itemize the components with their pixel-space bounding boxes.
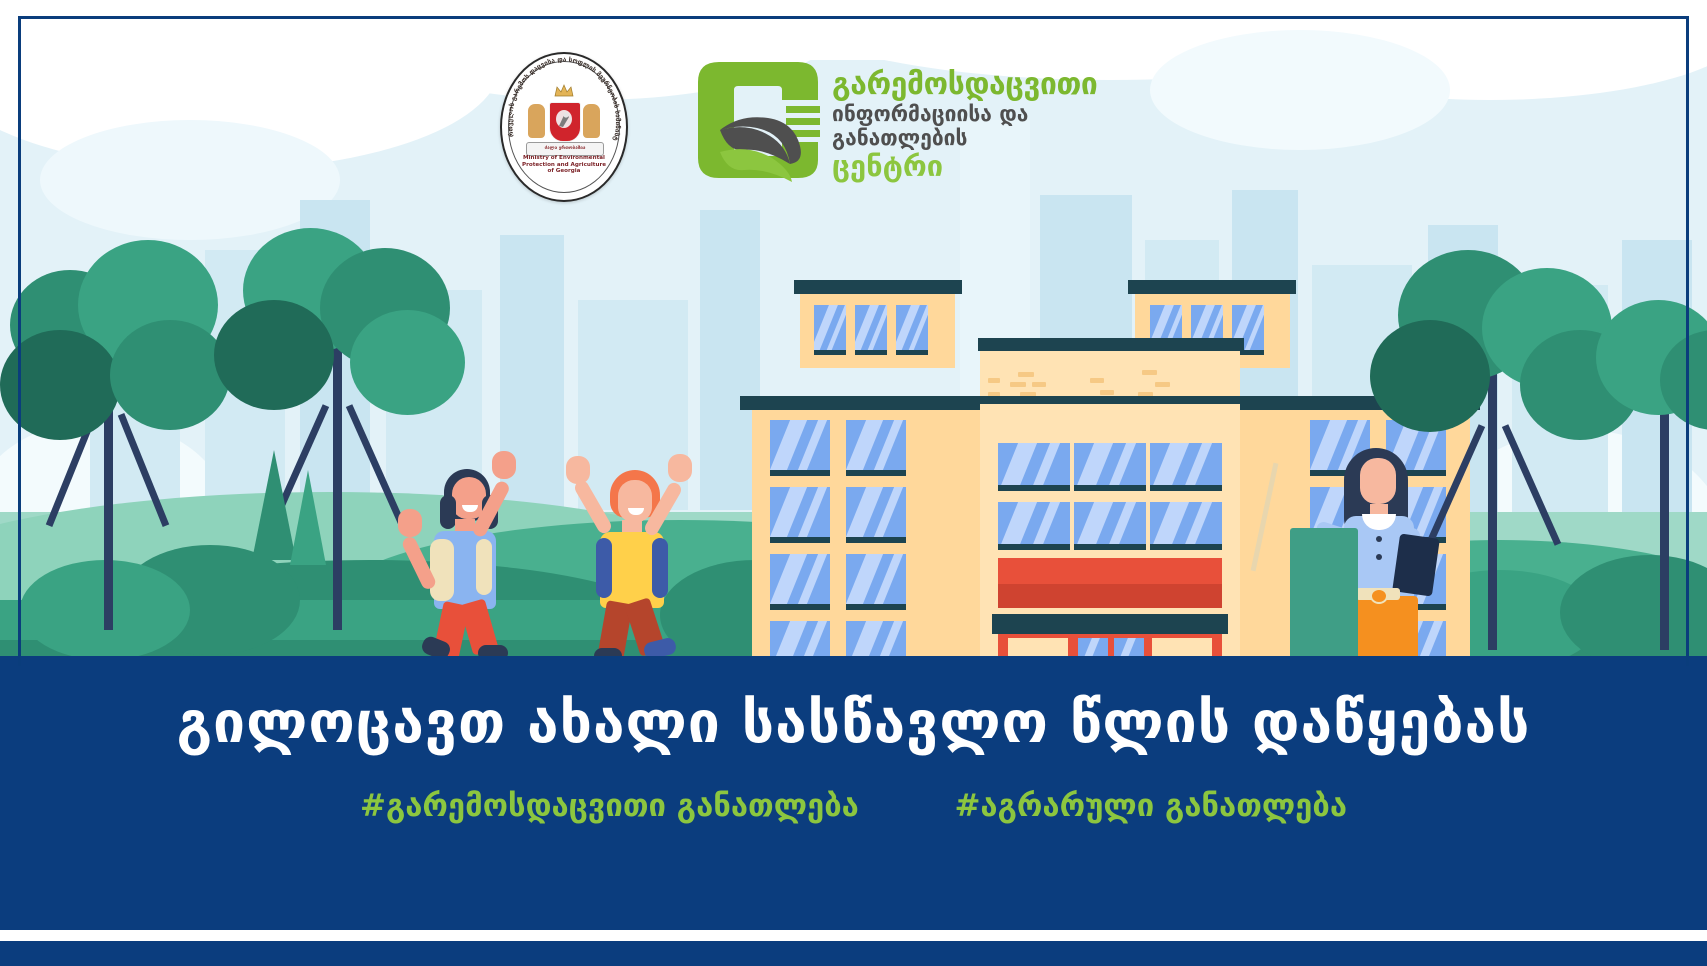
window: [846, 420, 906, 470]
poster-root: საქართველოს გარემოს დაცვისა და სოფლის მე…: [0, 0, 1707, 966]
ministry-emblem: საქართველოს გარემოს დაცვისა და სოფლის მე…: [500, 52, 628, 202]
banner-hashtags: #გარემოსდაცვითი განათლება #აგრარული განა…: [0, 788, 1707, 824]
window-sill: [1074, 485, 1146, 491]
window-sill: [770, 604, 830, 610]
banner-white-divider: [0, 930, 1707, 941]
lion-supporter-left: [528, 104, 545, 138]
brick-detail: [1032, 382, 1046, 387]
brick-detail: [1100, 390, 1114, 395]
blackboard: [1290, 528, 1358, 660]
window: [814, 305, 846, 350]
cloud-blob: [1150, 30, 1450, 150]
brick-detail: [1090, 378, 1104, 383]
emblem-en-line-2: Protection and Agriculture: [502, 162, 626, 169]
window: [846, 554, 906, 604]
brick-detail: [1142, 370, 1157, 375]
tree-foliage: [350, 310, 465, 415]
tree-foliage: [1370, 320, 1490, 432]
window-sill: [1150, 485, 1222, 491]
window-sill: [998, 485, 1070, 491]
window: [998, 502, 1070, 544]
conifer-tree: [290, 470, 326, 565]
window-sill: [846, 537, 906, 543]
frame-left: [18, 16, 21, 666]
tree-trunk: [1488, 350, 1497, 650]
window-sill: [1150, 544, 1222, 550]
brick-detail: [1018, 372, 1034, 377]
emblem-en-line-1: Ministry of Environmental: [502, 155, 626, 162]
window: [846, 487, 906, 537]
window-sill: [846, 470, 906, 476]
eiec-logo-line-1: გარემოსდაცვითი: [832, 70, 1162, 100]
school-center-roof: [978, 338, 1244, 351]
eiec-logo-line-3: ცენტრი: [832, 151, 1162, 181]
brick-detail: [1010, 382, 1026, 387]
window: [1150, 443, 1222, 485]
hashtag-1[interactable]: #გარემოსდაცვითი განათლება: [360, 788, 859, 824]
emblem-motto-ribbon: ძალა ერთობაშია: [526, 142, 604, 156]
tree-foliage: [110, 320, 230, 430]
frame-top: [18, 16, 1689, 19]
emblem-english-text: Ministry of Environmental Protection and…: [502, 155, 626, 175]
eiec-logo-line-2: ინფორმაციისა და განათლების: [832, 102, 1162, 150]
brick-detail: [988, 378, 1000, 383]
eiec-logo: გარემოსდაცვითი ინფორმაციისა და განათლები…: [686, 56, 1156, 184]
tree-trunk: [1660, 390, 1669, 650]
eiec-logo-mark: [686, 56, 826, 184]
emblem-en-line-3: of Georgia: [502, 168, 626, 175]
girl-student: [400, 455, 550, 670]
window: [1074, 443, 1146, 485]
hashtag-2[interactable]: #აგრარული განათლება: [954, 788, 1347, 824]
entrance-lintel: [992, 614, 1228, 634]
lion-supporter-right: [583, 104, 600, 138]
cloud-blob: [40, 120, 340, 240]
window: [770, 487, 830, 537]
georgia-shield: [549, 102, 581, 142]
window-sill: [896, 350, 928, 355]
school-right-wing-roof: [1128, 280, 1296, 294]
frame-right: [1686, 16, 1689, 666]
window-sill: [770, 470, 830, 476]
brick-detail: [1155, 382, 1170, 387]
window: [1074, 502, 1146, 544]
window-sill: [770, 537, 830, 543]
window-sill: [998, 544, 1070, 550]
window: [998, 443, 1070, 485]
window: [1150, 502, 1222, 544]
emblem-motto-text: ძალა ერთობაშია: [527, 143, 603, 154]
tree-foliage: [214, 300, 334, 410]
window-sill: [855, 350, 887, 355]
window: [855, 305, 887, 350]
tree-trunk: [333, 330, 342, 630]
entrance-awning-shadow: [998, 584, 1222, 608]
boy-student: [560, 460, 720, 675]
window-sill: [846, 604, 906, 610]
entrance-awning: [998, 558, 1222, 584]
window-sill: [1074, 544, 1146, 550]
banner-bottom-strip: [0, 941, 1707, 966]
school-left-wing-roof: [794, 280, 962, 294]
eiec-logo-text: გარემოსდაცვითი ინფორმაციისა და განათლები…: [832, 70, 1162, 181]
window: [770, 420, 830, 470]
crown-icon: [554, 83, 574, 97]
banner-headline: გილოცავთ ახალი სასწავლო წლის დაწყებას: [0, 690, 1707, 756]
window: [770, 554, 830, 604]
window-sill: [814, 350, 846, 355]
window: [896, 305, 928, 350]
